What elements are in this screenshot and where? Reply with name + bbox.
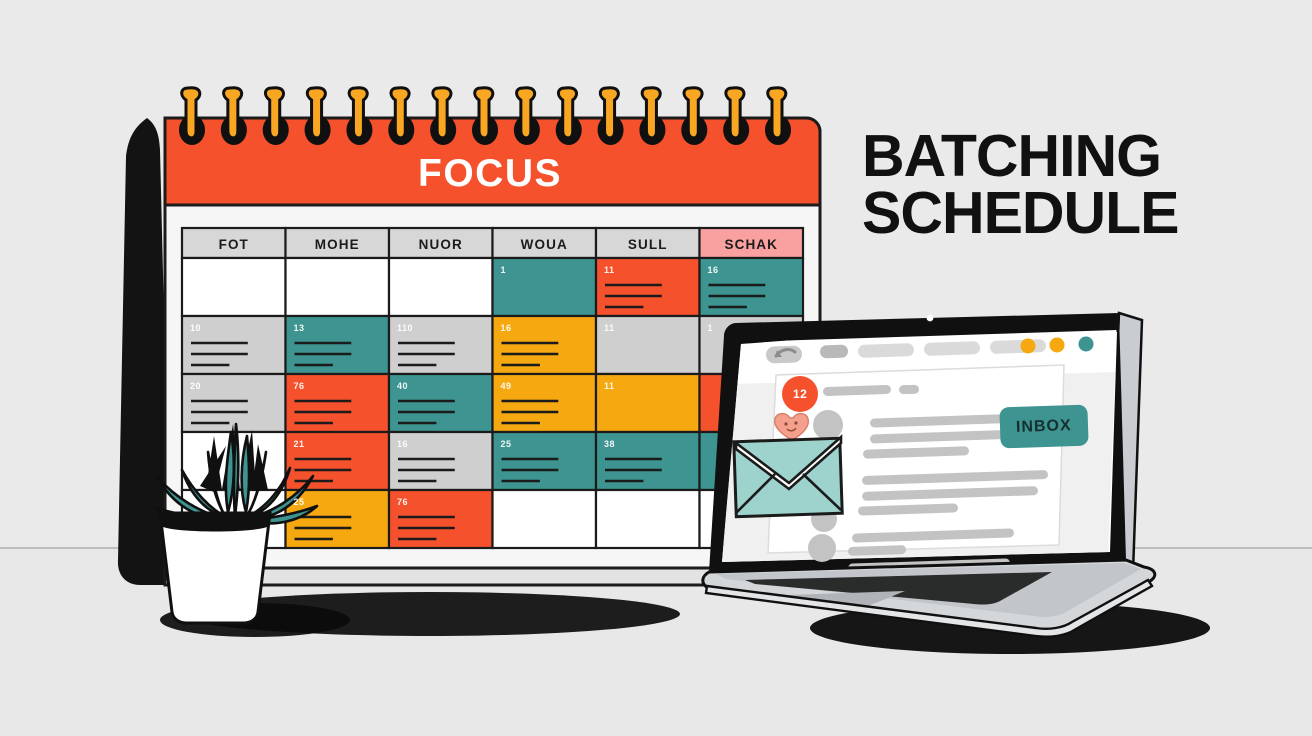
- calendar-cell-daynum: 110: [397, 323, 413, 333]
- calendar-cell-daynum: 25: [501, 439, 512, 449]
- avatar: [813, 410, 843, 440]
- calendar-cell[interactable]: [596, 490, 700, 548]
- scene-vector-art: [0, 0, 1312, 736]
- avatar: [808, 534, 836, 562]
- calendar-cell-daynum: 16: [501, 323, 512, 333]
- calendar-cell[interactable]: [286, 258, 390, 316]
- calendar-cell-daynum: 76: [397, 497, 408, 507]
- day-header-label-4: SULL: [596, 237, 700, 252]
- calendar-cell-daynum: 1: [708, 323, 714, 333]
- calendar-cell-daynum: 16: [708, 265, 719, 275]
- calendar-cell[interactable]: [389, 258, 493, 316]
- inbox-badge-label[interactable]: INBOX: [1016, 417, 1072, 437]
- calendar-cell-daynum: 25: [294, 497, 305, 507]
- dot-teal: [1079, 337, 1094, 352]
- dot-amber-1: [1021, 339, 1036, 354]
- calendar-cell-daynum: 11: [604, 381, 615, 391]
- calendar-cell-daynum: 49: [501, 381, 512, 391]
- day-header-label-1: MOHE: [286, 237, 390, 252]
- day-header-label-3: WOUA: [493, 237, 597, 252]
- calendar-banner-label: FOCUS: [168, 152, 812, 196]
- page-title: BATCHING SCHEDULE: [862, 128, 1262, 242]
- laptop-camera: [927, 315, 934, 322]
- day-header-label-0: FOT: [182, 237, 286, 252]
- title-line-1: BATCHING: [862, 128, 1262, 185]
- laptop: [703, 313, 1155, 637]
- calendar-cell-daynum: 10: [190, 323, 201, 333]
- calendar-cell-daynum: 16: [397, 439, 408, 449]
- calendar-cell-daynum: 21: [294, 439, 305, 449]
- dot-amber-2: [1050, 338, 1065, 353]
- day-header-label-2: NUOR: [389, 237, 493, 252]
- calendar-cell-daynum: 13: [294, 323, 305, 333]
- calendar-cell-daynum: 76: [294, 381, 305, 391]
- calendar-cell-daynum: 20: [190, 381, 201, 391]
- calendar-cell-daynum: 38: [604, 439, 615, 449]
- calendar-cell-daynum: 11: [604, 265, 615, 275]
- calendar-cell[interactable]: [182, 258, 286, 316]
- calendar-cell[interactable]: [493, 490, 597, 548]
- notification-badge-count: 12: [793, 387, 807, 401]
- calendar-cell-daynum: 1: [501, 265, 507, 275]
- calendar-cell-daynum: 40: [397, 381, 408, 391]
- spiral-binding: [179, 88, 791, 145]
- envelope-icon: [734, 437, 842, 517]
- pot-soil: [160, 513, 270, 532]
- illustration-canvas: BATCHING SCHEDULE FOCUS FOTMOHENUORWOUAS…: [0, 0, 1312, 736]
- calendar-cell-daynum: 11: [604, 323, 615, 333]
- calendar-cell[interactable]: [493, 258, 597, 316]
- day-header-label-5: SCHAK: [700, 237, 804, 252]
- title-line-2: SCHEDULE: [862, 185, 1262, 242]
